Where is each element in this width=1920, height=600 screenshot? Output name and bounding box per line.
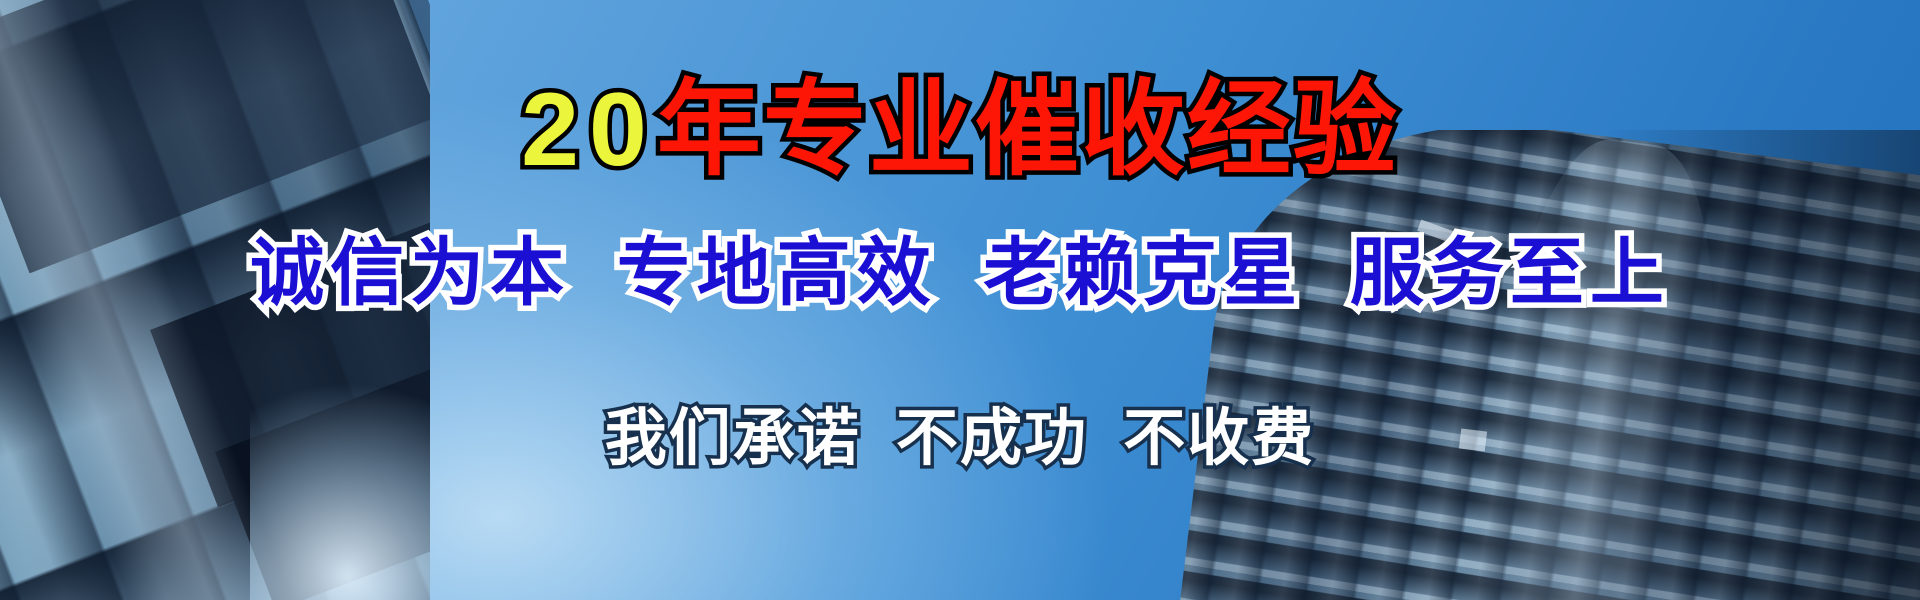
slogan-part-2: 专地高效 xyxy=(617,231,937,314)
promise-part-1: 我们承诺 xyxy=(605,404,861,473)
slogan-gap-1 xyxy=(570,231,617,314)
slogan-gap-3 xyxy=(1303,231,1350,314)
promise-gap-2 xyxy=(1088,404,1123,473)
headline-text: 年专业催收经验 xyxy=(657,72,1399,188)
headline: 20年专业催收经验 xyxy=(0,74,1920,186)
promise-line: 我们承诺 不成功 不收费 xyxy=(0,404,1920,474)
slogan-part-1: 诚信为本 xyxy=(250,231,570,314)
slogan-part-4: 服务至上 xyxy=(1350,231,1670,314)
headline-number: 20 xyxy=(521,72,657,188)
promotional-banner: 20年专业催收经验 诚信为本 专地高效 老赖克星 服务至上 我们承诺 不成功 不… xyxy=(0,0,1920,600)
promise-part-3: 不收费 xyxy=(1123,404,1315,473)
promise-part-2: 不成功 xyxy=(896,404,1088,473)
slogan-line: 诚信为本 专地高效 老赖克星 服务至上 xyxy=(0,232,1920,314)
slogan-gap-2 xyxy=(937,231,984,314)
banner-text-content: 20年专业催收经验 诚信为本 专地高效 老赖克星 服务至上 我们承诺 不成功 不… xyxy=(0,0,1920,600)
promise-gap-1 xyxy=(861,404,896,473)
slogan-part-3: 老赖克星 xyxy=(983,231,1303,314)
